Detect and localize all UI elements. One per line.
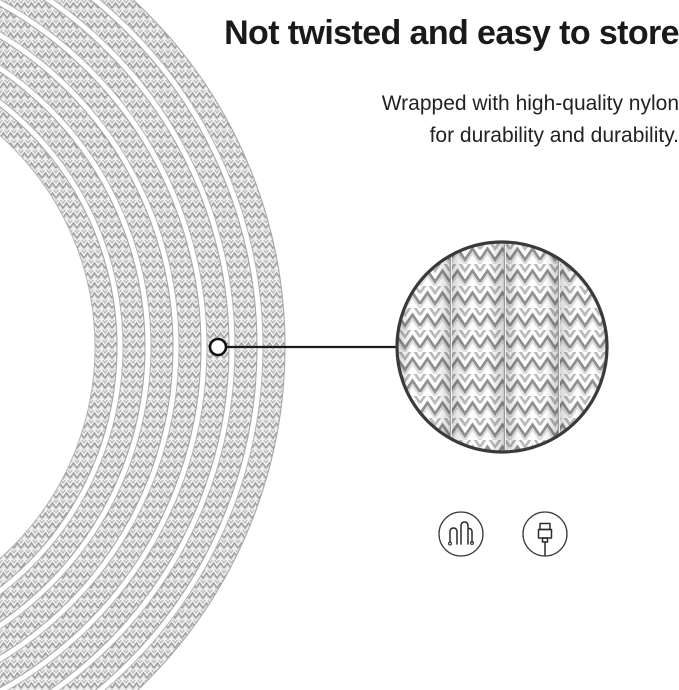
subtitle: Wrapped with high-quality nylon for dura… bbox=[270, 88, 679, 152]
page-title: Not twisted and easy to store bbox=[170, 14, 679, 53]
callout-marker bbox=[210, 339, 226, 355]
flexible-cable-icon bbox=[437, 510, 485, 558]
product-feature-image: Not twisted and easy to store Wrapped wi… bbox=[0, 0, 679, 690]
feature-icon-row bbox=[430, 505, 580, 580]
subtitle-line-2: for durability and durability. bbox=[270, 120, 679, 152]
connector-plug-icon bbox=[521, 510, 569, 558]
subtitle-line-1: Wrapped with high-quality nylon bbox=[270, 88, 679, 120]
